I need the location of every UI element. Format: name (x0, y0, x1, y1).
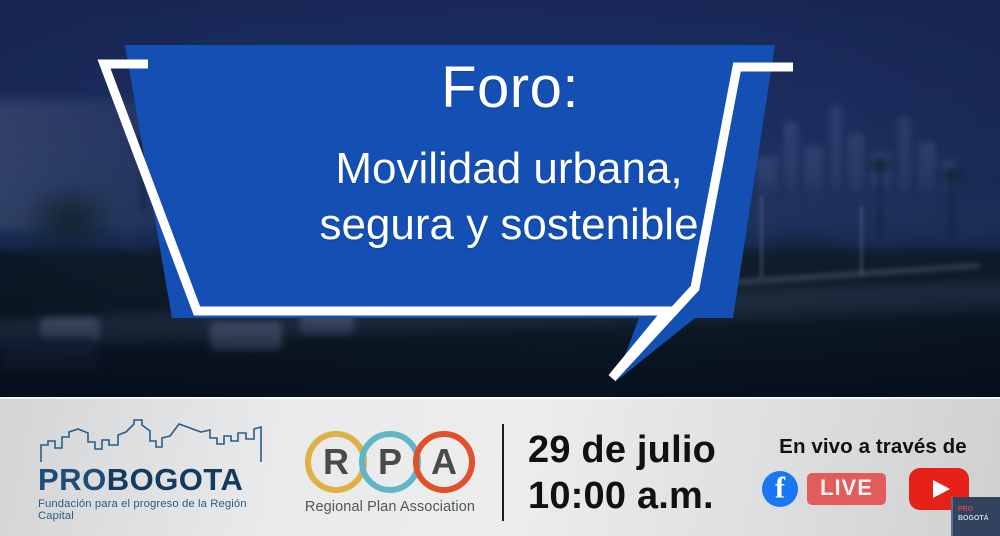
probogota-pro: PRO (38, 462, 107, 497)
page-subtitle: Movilidad urbana, segura y sostenible (0, 141, 1000, 254)
footer-divider (502, 424, 504, 521)
rpa-ring-p: P (359, 431, 421, 493)
subtitle-line-2: segura y sostenible (18, 197, 1000, 253)
probogota-tagline: Fundación para el progreso de la Región … (38, 498, 283, 522)
probogota-logo: PROBOGOTA Fundación para el progreso de … (38, 419, 283, 522)
live-badge[interactable]: LIVE (807, 473, 886, 505)
facebook-icon[interactable] (762, 471, 798, 507)
rpa-logo: R P A Regional Plan Association (300, 431, 480, 515)
rpa-letter-r: R (323, 441, 349, 483)
probogota-watermark: PRO BOGOTÁ (951, 497, 1000, 536)
subtitle-line-1: Movilidad urbana, (18, 141, 1000, 197)
broadcast-slate: Foro: Movilidad urbana, segura y sosteni… (0, 0, 1000, 536)
event-time: 10:00 a.m. (528, 474, 716, 520)
watermark-line-1: PRO (958, 506, 989, 515)
event-datetime: 29 de julio 10:00 a.m. (528, 428, 716, 519)
probogota-bogota: BOGOTA (107, 462, 244, 497)
probogota-wordmark: PROBOGOTA (38, 464, 283, 495)
rpa-ring-r: R (305, 431, 367, 493)
rpa-letter-p: P (378, 441, 402, 483)
live-label: En vivo a través de (762, 435, 984, 459)
bogota-skyline-icon (38, 419, 273, 463)
watermark-line-2: BOGOTÁ (958, 515, 989, 524)
page-title: Foro: (0, 58, 1000, 119)
rpa-name: Regional Plan Association (300, 499, 480, 515)
rpa-letter-rings: R P A (300, 431, 480, 493)
banner-text-block: Foro: Movilidad urbana, segura y sosteni… (0, 58, 1000, 254)
rpa-ring-a: A (413, 431, 475, 493)
event-date: 29 de julio (528, 428, 716, 474)
rpa-letter-a: A (431, 441, 457, 483)
